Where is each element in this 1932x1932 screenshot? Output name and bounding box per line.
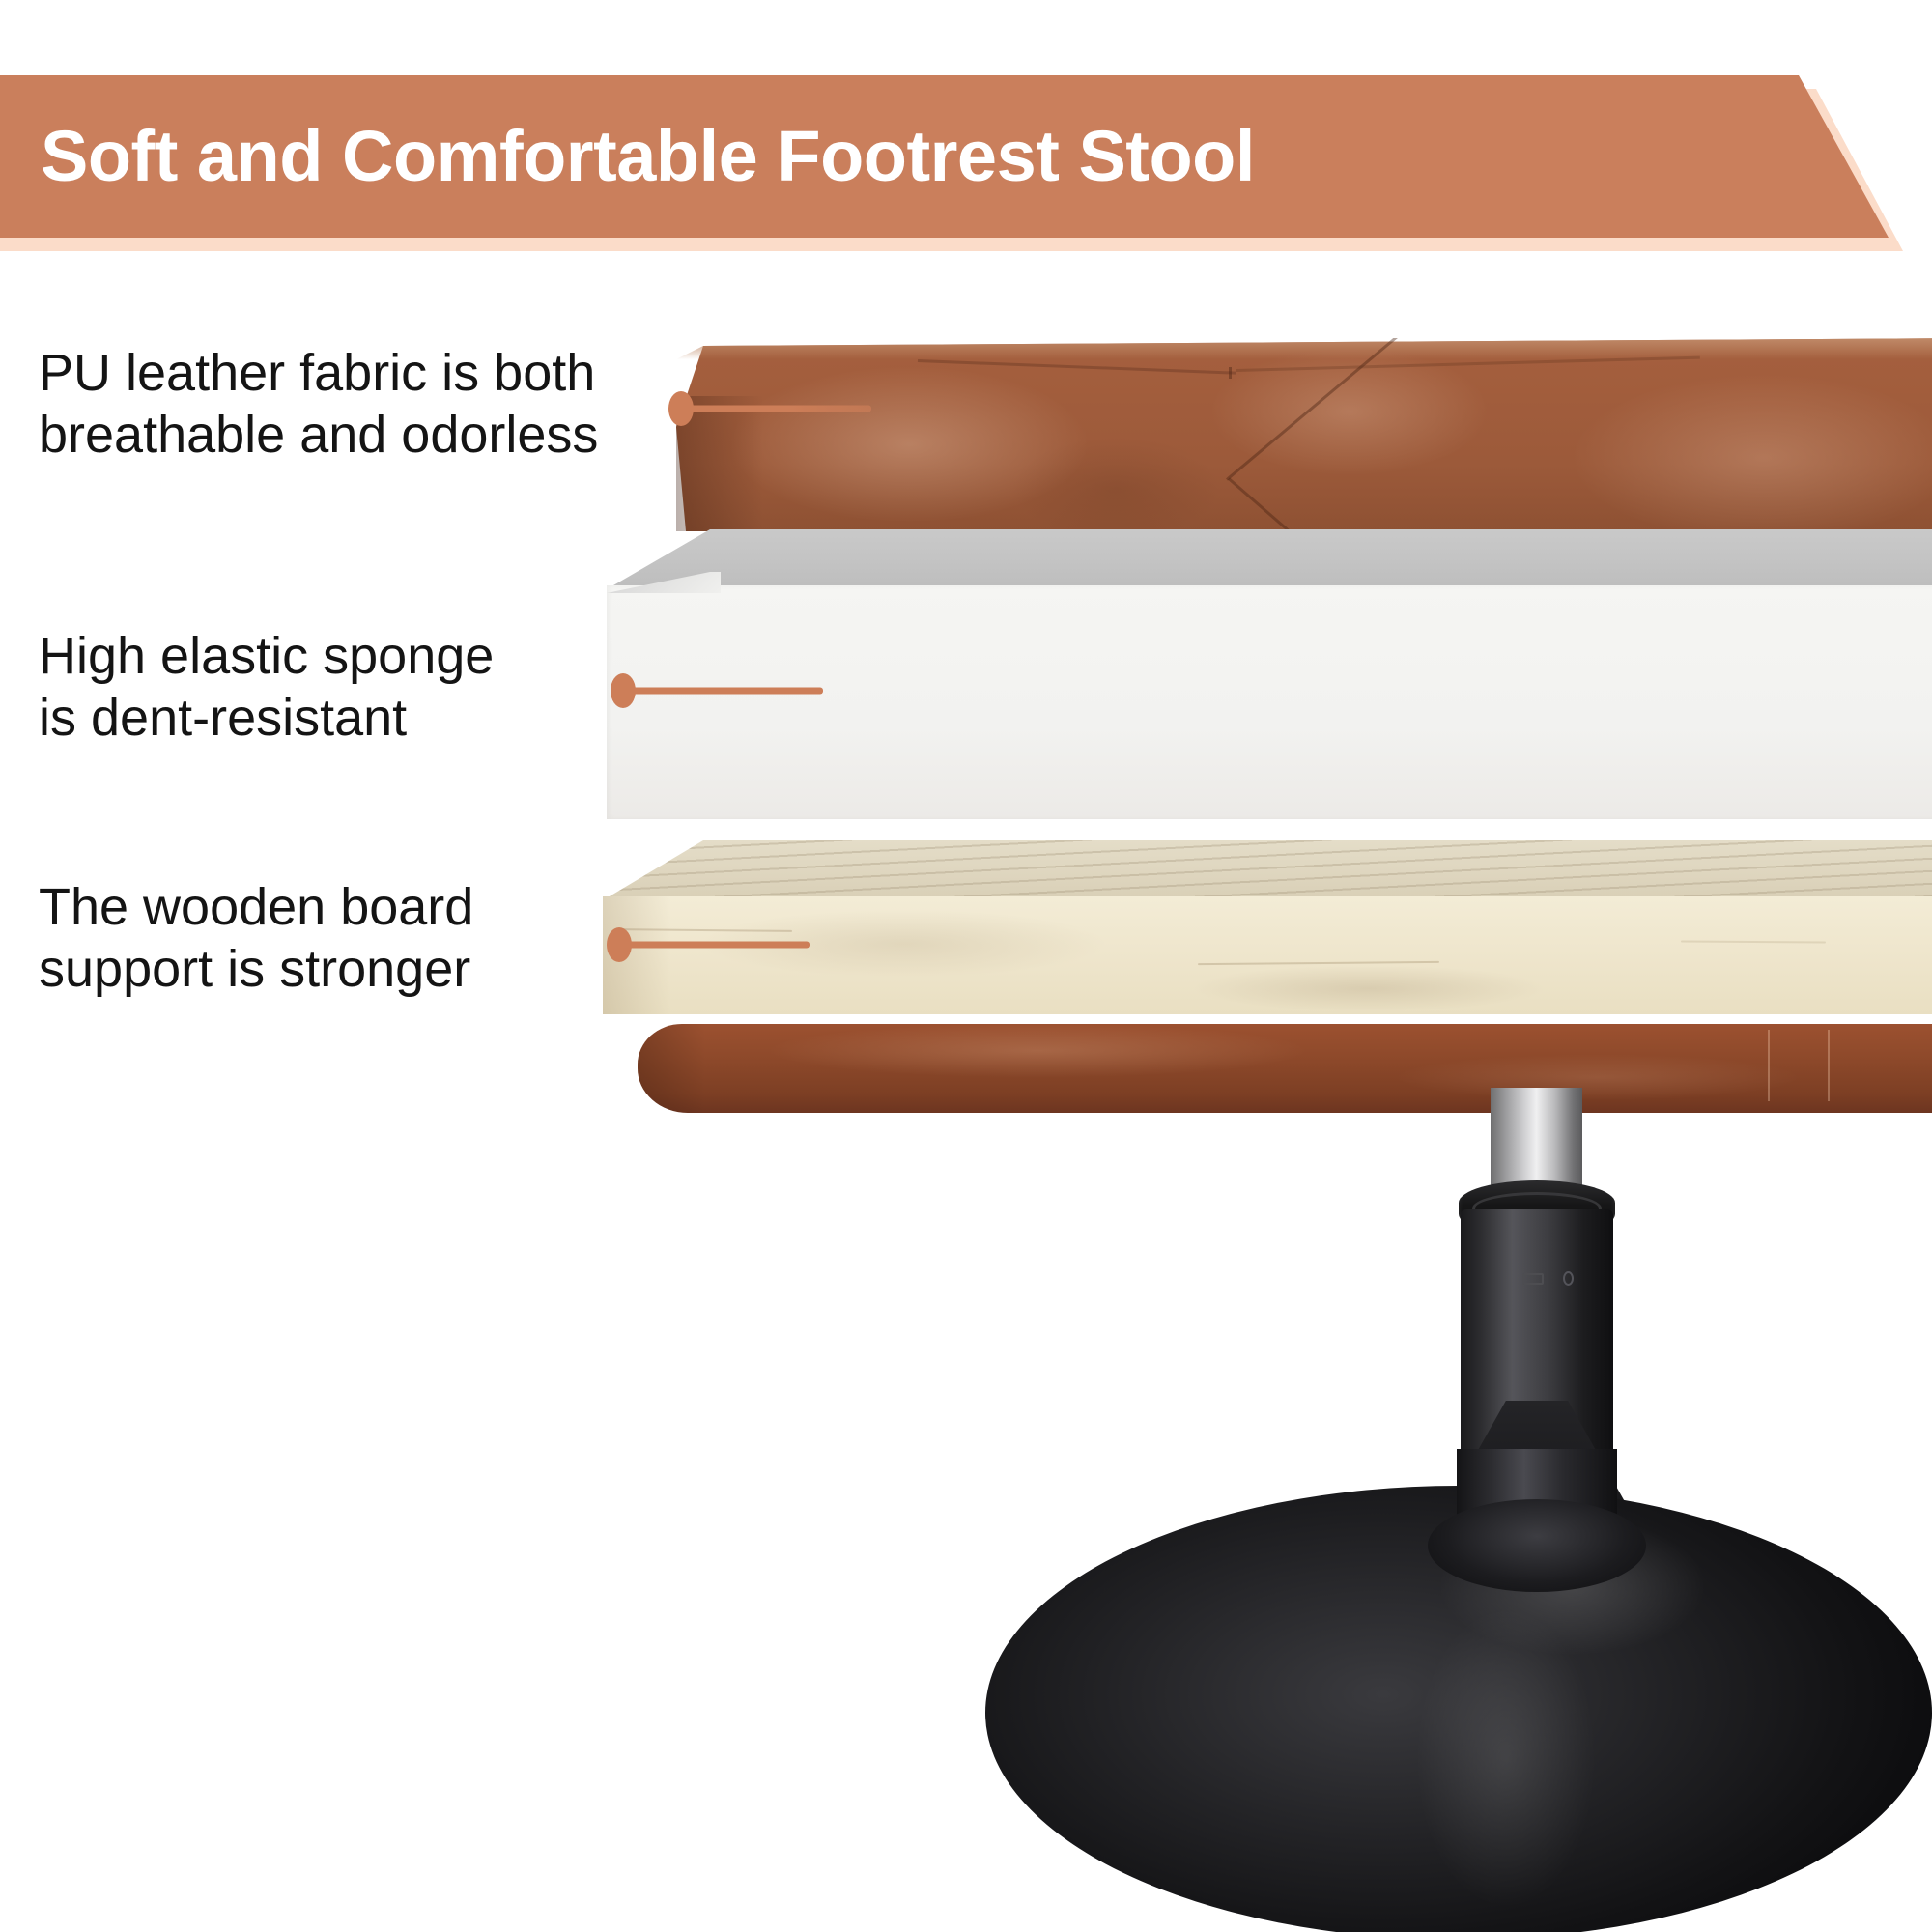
pedestal-base-hub xyxy=(1428,1499,1646,1592)
leather-base-seam xyxy=(1768,1030,1770,1101)
leader-bar xyxy=(626,942,810,949)
sponge-layer xyxy=(580,529,1932,819)
sponge-front-face xyxy=(607,585,1932,819)
callout-text-sponge: High elastic sponge is dent-resistant xyxy=(39,626,494,749)
leather-cushion-layer xyxy=(676,338,1932,531)
leather-base-layer xyxy=(638,1024,1932,1113)
sponge-top-face xyxy=(580,529,1932,589)
leather-top-edge xyxy=(676,338,1932,359)
leather-seam-apex xyxy=(1229,367,1232,379)
cylinder-marking-dot xyxy=(1563,1271,1574,1286)
wood-front-face xyxy=(603,896,1932,1014)
leather-base-seam xyxy=(1828,1030,1830,1101)
infographic-page: Soft and Comfortable Footrest Stool xyxy=(0,0,1932,1932)
header-banner: Soft and Comfortable Footrest Stool xyxy=(0,75,1913,249)
wood-top-face xyxy=(580,840,1932,900)
chrome-piston-rod xyxy=(1491,1088,1582,1194)
leader-bar xyxy=(630,688,823,695)
callout-text-pu-leather: PU leather fabric is both breathable and… xyxy=(39,343,598,466)
cylinder-marking-rect xyxy=(1522,1273,1544,1285)
wooden-board-layer xyxy=(580,840,1932,1014)
leather-base-rolled-edge xyxy=(638,1024,705,1113)
page-title: Soft and Comfortable Footrest Stool xyxy=(41,121,1255,192)
banner-shape: Soft and Comfortable Footrest Stool xyxy=(0,75,1889,238)
callout-text-wooden-board: The wooden board support is stronger xyxy=(39,877,473,1000)
leader-bar xyxy=(688,406,871,412)
